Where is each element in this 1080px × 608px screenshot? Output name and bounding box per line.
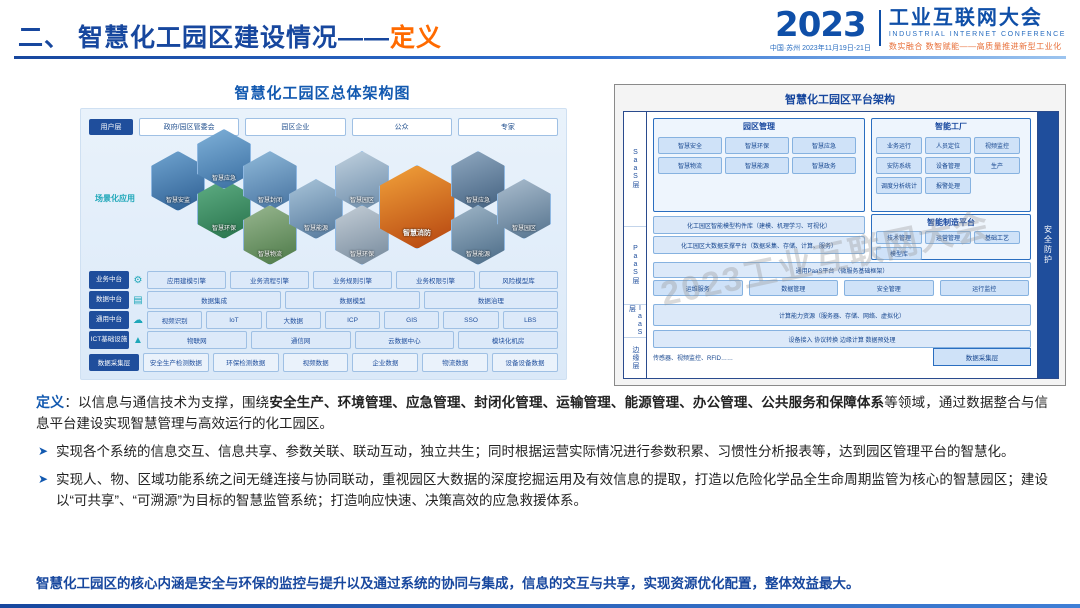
logo-date: 中国·苏州 2023年11月19日-21日 bbox=[770, 44, 871, 53]
data-collection-cell: 安全生产检测数据 bbox=[143, 353, 209, 372]
platform-architecture: SaaS层 PaaS层 IaaS层 边缘层 园区管理 智慧安全 智慧环保 智慧应… bbox=[623, 111, 1059, 379]
platform-row: ICT基础设施 ▲ 物联网 通信网 云数据中心 模块化机房 bbox=[89, 331, 558, 349]
panel-cell: 运营管理 bbox=[925, 231, 971, 244]
page-title: 二、 智慧化工园区建设情况——定义 bbox=[18, 18, 442, 54]
conclusion-text: 智慧化工园区的核心内涵是安全与环保的监控与提升以及通过系统的协同与集成，信息的交… bbox=[36, 574, 1048, 593]
iaas-resource-bar: 计算能力资源（服务器、存储、网络、虚拟化） bbox=[653, 304, 1031, 326]
right-figure-title: 智慧化工园区平台架构 bbox=[615, 91, 1065, 107]
data-collection-cell: 设备设备数据 bbox=[492, 353, 558, 372]
hex-label: 智慧安监 bbox=[152, 195, 204, 204]
hex-tile: 智慧安监 bbox=[151, 151, 205, 211]
data-collection-cell: 物流数据 bbox=[422, 353, 488, 372]
platform-cell: 业务权限引擎 bbox=[396, 271, 475, 289]
layer-label-saas: SaaS层 bbox=[624, 112, 646, 227]
paas-bigdata-bar: 化工园区大数据支撑平台（数据采集、存储、计算、服务） bbox=[653, 236, 865, 254]
scenario-label: 场景化应用 bbox=[95, 193, 135, 204]
bullet-arrow-icon: ➤ bbox=[38, 441, 48, 462]
panel-cell: 模型库 bbox=[876, 247, 922, 260]
slide: 二、 智慧化工园区建设情况——定义 2023 中国·苏州 2023年11月19日… bbox=[0, 0, 1080, 608]
logo-title-en: INDUSTRIAL INTERNET CONFERENCE bbox=[889, 30, 1066, 40]
hex-label: 智慧应急 bbox=[198, 173, 250, 182]
platform-cell: 应用建模引擎 bbox=[147, 271, 226, 289]
edge-data-tag: 数据采集层 bbox=[933, 348, 1031, 366]
logo-divider bbox=[879, 10, 881, 46]
user-cell: 园区企业 bbox=[245, 118, 345, 136]
definition-paragraph: 定义：以信息与通信技术为支撑，围绕安全生产、环境管理、应急管理、封闭化管理、运输… bbox=[36, 392, 1048, 434]
left-architecture-figure: 智慧化工园区总体架构图 用户层 政府/园区管委会 园区企业 公众 专家 场景化应… bbox=[70, 82, 575, 382]
panel-cell: 智慧能源 bbox=[725, 157, 789, 174]
platform-cell: 业务流程引擎 bbox=[230, 271, 309, 289]
hex-label: 智慧环保 bbox=[336, 249, 388, 258]
paas-service-cell: 安全管理 bbox=[844, 280, 934, 296]
hex-tile: 智慧能源 bbox=[451, 205, 505, 265]
footer-divider bbox=[0, 604, 1080, 608]
data-collection-cell: 环保检测数据 bbox=[213, 353, 279, 372]
hex-tile: 智慧封闭 bbox=[243, 151, 297, 211]
layer-label-paas: PaaS层 bbox=[624, 227, 646, 305]
hex-label: 智慧应急 bbox=[452, 195, 504, 204]
panel-cell: 报警处理 bbox=[925, 177, 971, 194]
paas-service-cell: 数据管理 bbox=[749, 280, 839, 296]
hex-tile-highlight: 智慧消防 bbox=[379, 165, 455, 249]
logo-year: 2023 bbox=[775, 8, 866, 42]
slide-header: 二、 智慧化工园区建设情况——定义 2023 中国·苏州 2023年11月19日… bbox=[0, 0, 1080, 78]
hex-tile: 智慧园区 bbox=[497, 179, 551, 239]
edge-note: 传感器、视频监控、RFID…… bbox=[653, 350, 923, 364]
platform-cell: SSO bbox=[443, 311, 498, 329]
panel-smart-factory: 智能工厂 业务运行 人员定位 视频监控 安防系统 设备管理 生产 调度分析统计 … bbox=[871, 118, 1031, 212]
bullet-text: 实现人、物、区域功能系统之间无缝连接与协同联动，重视园区大数据的深度挖掘运用及有… bbox=[56, 472, 1048, 508]
platform-row: 业务中台 ⚙ 应用建模引擎 业务流程引擎 业务规则引擎 业务权限引擎 风险模型库 bbox=[89, 271, 558, 289]
layer-column: SaaS层 PaaS层 IaaS层 边缘层 bbox=[624, 112, 647, 378]
data-collection-cell: 企业数据 bbox=[352, 353, 418, 372]
data-collection-tag: 数据采集层 bbox=[89, 354, 139, 371]
panel-title: 园区管理 bbox=[654, 121, 864, 132]
body-text: 定义：以信息与通信技术为支撑，围绕安全生产、环境管理、应急管理、封闭化管理、运输… bbox=[36, 392, 1048, 511]
scenario-area: 场景化应用 智慧安监 智慧环保 智慧应急 智慧封闭 智慧物流 智慧能源 智慧园区… bbox=[89, 141, 558, 266]
paas-model-bar: 化工园区智能模型构件库（建模、机理学习、可视化） bbox=[653, 216, 865, 234]
gear-icon: ⚙ bbox=[129, 271, 147, 289]
panel-cell: 设备管理 bbox=[925, 157, 971, 174]
page-title-accent: 定义 bbox=[390, 24, 442, 52]
logo-title-cn: 工业互联网大会 bbox=[889, 8, 1066, 29]
panel-cell: 技术管理 bbox=[876, 231, 922, 244]
platform-body: 园区管理 智慧安全 智慧环保 智慧应急 智慧物流 智慧能源 智慧政务 智能工厂 … bbox=[647, 112, 1037, 378]
paas-service-row: 运维服务 数据管理 安全管理 运行监控 bbox=[653, 280, 1029, 296]
platform-row-label: 通用中台 bbox=[89, 311, 129, 329]
panel-cell: 智慧环保 bbox=[725, 137, 789, 154]
panel-cell: 智慧安全 bbox=[658, 137, 722, 154]
panel-cell: 智慧政务 bbox=[792, 157, 856, 174]
platform-row: 通用中台 ☁ 视频识别 IoT 大数据 ICP GIS SSO LBS bbox=[89, 311, 558, 329]
platform-cell: 通信网 bbox=[251, 331, 351, 349]
user-layer-row: 用户层 政府/园区管委会 园区企业 公众 专家 bbox=[89, 117, 558, 137]
data-collection-row: 数据采集层 安全生产检测数据 环保检测数据 视频数据 企业数据 物流数据 设备设… bbox=[89, 352, 558, 372]
definition-part1: 以信息与通信技术为支撑，围绕 bbox=[78, 395, 269, 410]
panel-title: 智能工厂 bbox=[872, 121, 1030, 132]
platform-cell: 物联网 bbox=[147, 331, 247, 349]
panel-park-management: 园区管理 智慧安全 智慧环保 智慧应急 智慧物流 智慧能源 智慧政务 bbox=[653, 118, 865, 212]
edge-capability-bar: 设备接入 协议转换 边缘计算 数据预处理 bbox=[653, 330, 1031, 348]
platform-rows: 业务中台 ⚙ 应用建模引擎 业务流程引擎 业务规则引擎 业务权限引擎 风险模型库… bbox=[89, 271, 558, 349]
panel-cell: 视频监控 bbox=[974, 137, 1020, 154]
security-side-label: 安全防护 bbox=[1037, 112, 1058, 378]
platform-cell: 模块化机房 bbox=[458, 331, 558, 349]
page-title-prefix: 二、 智慧化工园区建设情况—— bbox=[18, 24, 390, 52]
panel-title: 智能制造平台 bbox=[872, 217, 1030, 228]
hex-label: 智慧园区 bbox=[498, 223, 550, 232]
hex-label: 智慧能源 bbox=[290, 223, 342, 232]
logo-subtitle: 数实融合 数智赋能——高质量推进新型工业化 bbox=[889, 41, 1066, 52]
paas-service-cell: 运维服务 bbox=[653, 280, 743, 296]
panel-cell: 生产 bbox=[974, 157, 1020, 174]
bullet-text: 实现各个系统的信息交互、信息共享、参数关联、联动互动，独立共生；同时根据运营实际… bbox=[56, 444, 1015, 459]
hex-label: 智慧物流 bbox=[244, 249, 296, 258]
panel-cell: 人员定位 bbox=[925, 137, 971, 154]
panel-cell: 调度分析统计 bbox=[876, 177, 922, 194]
panel-cell: 基础工艺 bbox=[974, 231, 1020, 244]
platform-cell: GIS bbox=[384, 311, 439, 329]
platform-cell: 业务规则引擎 bbox=[313, 271, 392, 289]
platform-cell: 数据集成 bbox=[147, 291, 281, 309]
layer-label-edge: 边缘层 bbox=[624, 338, 646, 378]
platform-cell: 风险模型库 bbox=[479, 271, 558, 289]
hex-label: 智慧消防 bbox=[380, 228, 454, 238]
platform-row-label: ICT基础设施 bbox=[89, 331, 129, 349]
bullet-arrow-icon: ➤ bbox=[38, 469, 48, 490]
panel-cell: 安防系统 bbox=[876, 157, 922, 174]
hex-label: 智慧能源 bbox=[452, 249, 504, 258]
architecture-diagram: 用户层 政府/园区管委会 园区企业 公众 专家 场景化应用 智慧安监 智慧环保 … bbox=[80, 108, 567, 380]
user-cell: 公众 bbox=[352, 118, 452, 136]
platform-cell: 云数据中心 bbox=[355, 331, 455, 349]
layer-label-iaas: IaaS层 bbox=[624, 305, 646, 338]
hex-tile: 智慧应急 bbox=[197, 129, 251, 189]
conference-logo: 2023 中国·苏州 2023年11月19日-21日 工业互联网大会 INDUS… bbox=[770, 8, 1066, 60]
panel-smart-manufacturing: 智能制造平台 技术管理 运营管理 基础工艺 模型库 bbox=[871, 214, 1031, 260]
hex-cluster: 智慧安监 智慧环保 智慧应急 智慧封闭 智慧物流 智慧能源 智慧园区 智慧环保 … bbox=[151, 143, 556, 265]
platform-cell: LBS bbox=[503, 311, 558, 329]
left-figure-title: 智慧化工园区总体架构图 bbox=[70, 82, 575, 103]
hex-tile: 智慧物流 bbox=[243, 205, 297, 265]
bullet-item: ➤ 实现各个系统的信息交互、信息共享、参数关联、联动互动，独立共生；同时根据运营… bbox=[36, 441, 1048, 462]
data-collection-cell: 视频数据 bbox=[283, 353, 349, 372]
panel-cell: 智慧物流 bbox=[658, 157, 722, 174]
platform-row-label: 业务中台 bbox=[89, 271, 129, 289]
hex-tile: 智慧应急 bbox=[451, 151, 505, 211]
user-cell: 专家 bbox=[458, 118, 558, 136]
paas-service-cell: 运行监控 bbox=[940, 280, 1030, 296]
right-platform-figure: 智慧化工园区平台架构 SaaS层 PaaS层 IaaS层 边缘层 园区管理 智慧… bbox=[614, 84, 1066, 386]
hex-label: 智慧封闭 bbox=[244, 195, 296, 204]
definition-sep: ： bbox=[64, 395, 78, 410]
paas-platform-bar: 通用PaaS平台（微服务基础框架） bbox=[653, 262, 1031, 278]
database-icon: ▤ bbox=[129, 291, 147, 309]
definition-label: 定义 bbox=[36, 394, 64, 410]
platform-row: 数据中台 ▤ 数据集成 数据模型 数据治理 bbox=[89, 291, 558, 309]
platform-cell: 数据治理 bbox=[424, 291, 558, 309]
panel-cell: 业务运行 bbox=[876, 137, 922, 154]
bullet-item: ➤ 实现人、物、区域功能系统之间无缝连接与协同联动，重视园区大数据的深度挖掘运用… bbox=[36, 469, 1048, 511]
platform-cell: ICP bbox=[325, 311, 380, 329]
panel-cell: 智慧应急 bbox=[792, 137, 856, 154]
antenna-icon: ▲ bbox=[129, 331, 147, 349]
platform-cell: 大数据 bbox=[266, 311, 321, 329]
platform-row-label: 数据中台 bbox=[89, 291, 129, 309]
platform-cell: IoT bbox=[206, 311, 261, 329]
hex-label: 智慧环保 bbox=[198, 223, 250, 232]
hex-tile: 智慧能源 bbox=[289, 179, 343, 239]
user-layer-tag: 用户层 bbox=[89, 119, 133, 135]
platform-cell: 视频识别 bbox=[147, 311, 202, 329]
definition-bold: 安全生产、环境管理、应急管理、封闭化管理、运输管理、能源管理、办公管理、公共服务… bbox=[269, 395, 884, 410]
cloud-icon: ☁ bbox=[129, 311, 147, 329]
platform-cell: 数据模型 bbox=[285, 291, 419, 309]
